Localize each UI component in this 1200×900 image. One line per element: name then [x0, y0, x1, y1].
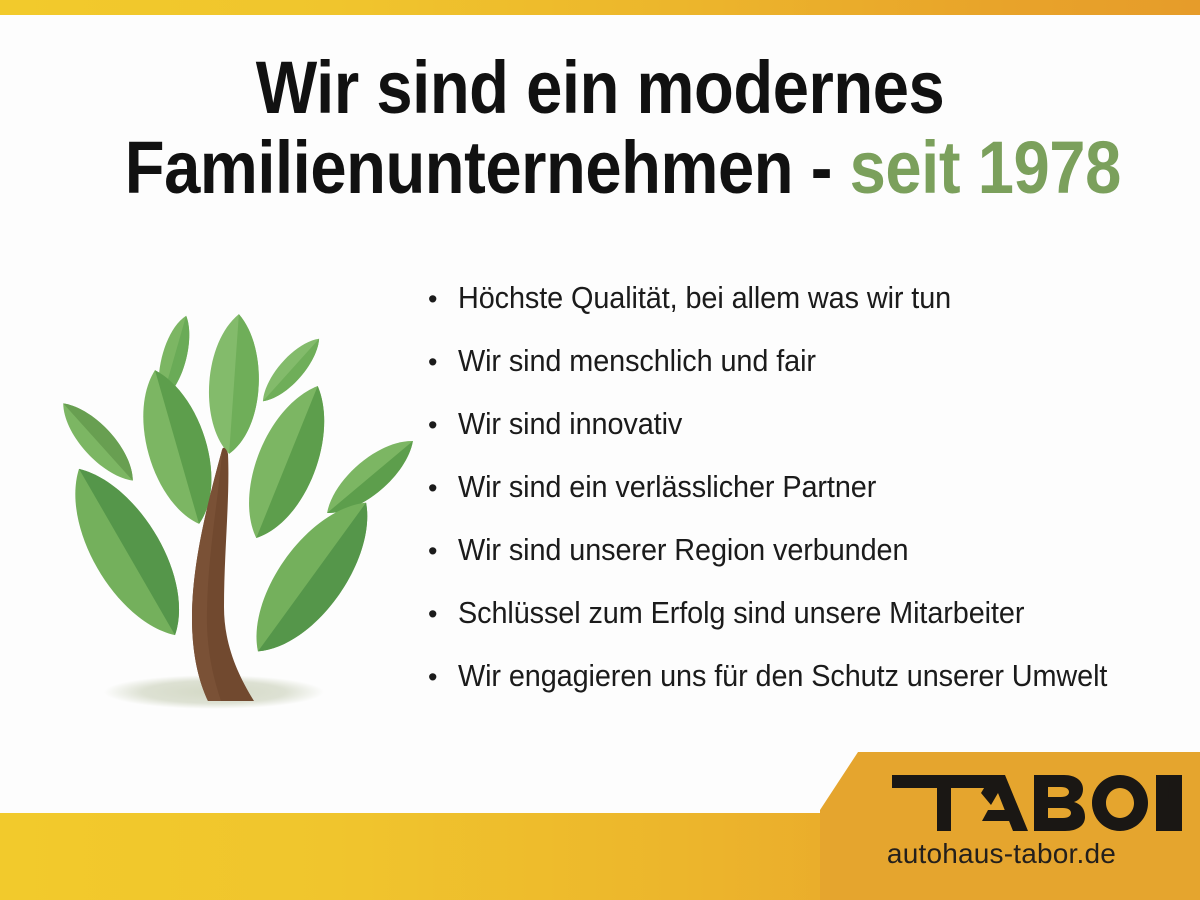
list-item: • Höchste Qualität, bei allem was wir tu…: [428, 282, 1188, 345]
bullet-dot-icon: •: [428, 349, 458, 376]
tree-illustration: [22, 302, 422, 720]
bullet-dot-icon: •: [428, 601, 458, 628]
tree-leaf-2: [204, 312, 263, 455]
list-item-label: Wir sind innovativ: [458, 408, 682, 439]
list-item: • Wir sind ein verlässlicher Partner: [428, 471, 1188, 534]
bullet-dot-icon: •: [428, 538, 458, 565]
page-title: Wir sind ein modernes Familienunternehme…: [125, 48, 1075, 208]
page-title-line-1: Wir sind ein modernes: [125, 48, 1075, 128]
brand-logo-banner[interactable]: autohaus-tabor.de: [820, 752, 1200, 900]
bullet-dot-icon: •: [428, 475, 458, 502]
brand-url[interactable]: autohaus-tabor.de: [820, 840, 1200, 868]
list-item: • Wir sind innovativ: [428, 408, 1188, 471]
list-item-label: Höchste Qualität, bei allem was wir tun: [458, 282, 951, 313]
page-title-line-2-plain: Familienunternehmen -: [125, 126, 850, 209]
top-accent-bar: [0, 0, 1200, 15]
list-item-label: Wir sind ein verlässlicher Partner: [458, 471, 876, 502]
list-item-label: Schlüssel zum Erfolg sind unsere Mitarbe…: [458, 597, 1024, 628]
list-item-label: Wir engagieren uns für den Schutz unsere…: [458, 660, 1107, 691]
bullet-dot-icon: •: [428, 286, 458, 313]
list-item: • Wir sind menschlich und fair: [428, 345, 1188, 408]
list-item-label: Wir sind unserer Region verbunden: [458, 534, 908, 565]
bullet-dot-icon: •: [428, 664, 458, 691]
slide-canvas: Wir sind ein modernes Familienunternehme…: [0, 0, 1200, 900]
tree-leaf-7: [316, 428, 422, 526]
value-list: • Höchste Qualität, bei allem was wir tu…: [428, 282, 1188, 723]
list-item: • Schlüssel zum Erfolg sind unsere Mitar…: [428, 597, 1188, 660]
page-title-accent: seit 1978: [850, 126, 1121, 209]
brand-wordmark-tabor: [892, 775, 1182, 831]
list-item-label: Wir sind menschlich und fair: [458, 345, 816, 376]
list-item: • Wir sind unserer Region verbunden: [428, 534, 1188, 597]
bullet-dot-icon: •: [428, 412, 458, 439]
list-item: • Wir engagieren uns für den Schutz unse…: [428, 660, 1188, 723]
page-title-line-2: Familienunternehmen - seit 1978: [125, 128, 1075, 208]
